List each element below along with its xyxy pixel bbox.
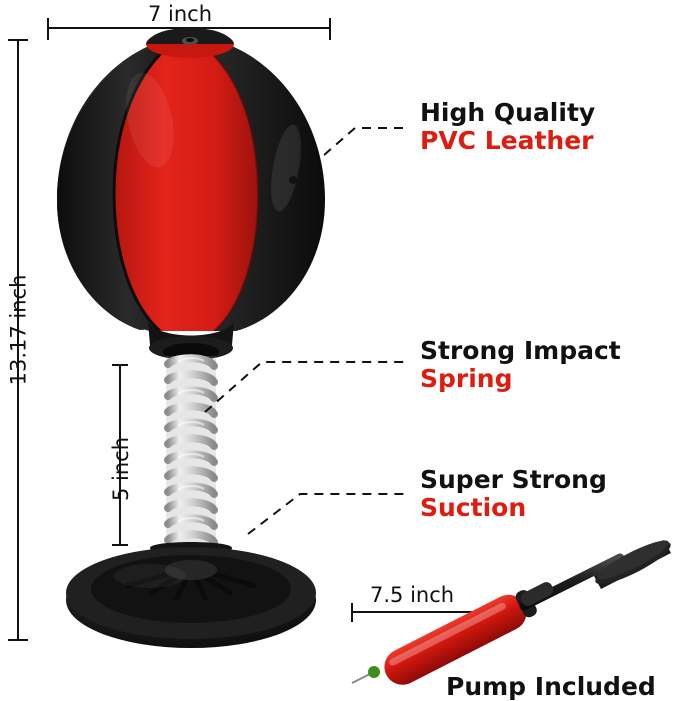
dimension-spring-label: 5 inch	[109, 437, 133, 501]
caption-pump-included: Pump Included	[446, 673, 656, 701]
callout-pvc-leather: High Quality PVC Leather	[420, 99, 595, 155]
dimension-height-label: 13.17 inch	[6, 275, 30, 386]
callout-pvc-leather-line1: High Quality	[420, 98, 595, 127]
dimension-width-label: 7 inch	[148, 2, 212, 26]
callout-suction-line1: Super Strong	[420, 465, 607, 494]
product-infographic: 7 inch 13.17 inch 5 inch 7.5 inch High Q…	[0, 0, 679, 701]
dimension-pump-label: 7.5 inch	[370, 583, 454, 607]
callout-spring-line2: Spring	[420, 365, 621, 393]
spring	[166, 356, 216, 546]
callout-spring-line1: Strong Impact	[420, 336, 621, 365]
callout-suction: Super Strong Suction	[420, 466, 607, 522]
callout-spring: Strong Impact Spring	[420, 337, 621, 393]
callout-pvc-leather-line2: PVC Leather	[420, 127, 595, 155]
callout-suction-line2: Suction	[420, 494, 607, 522]
suction-base	[66, 542, 316, 648]
punching-ball	[57, 28, 325, 361]
